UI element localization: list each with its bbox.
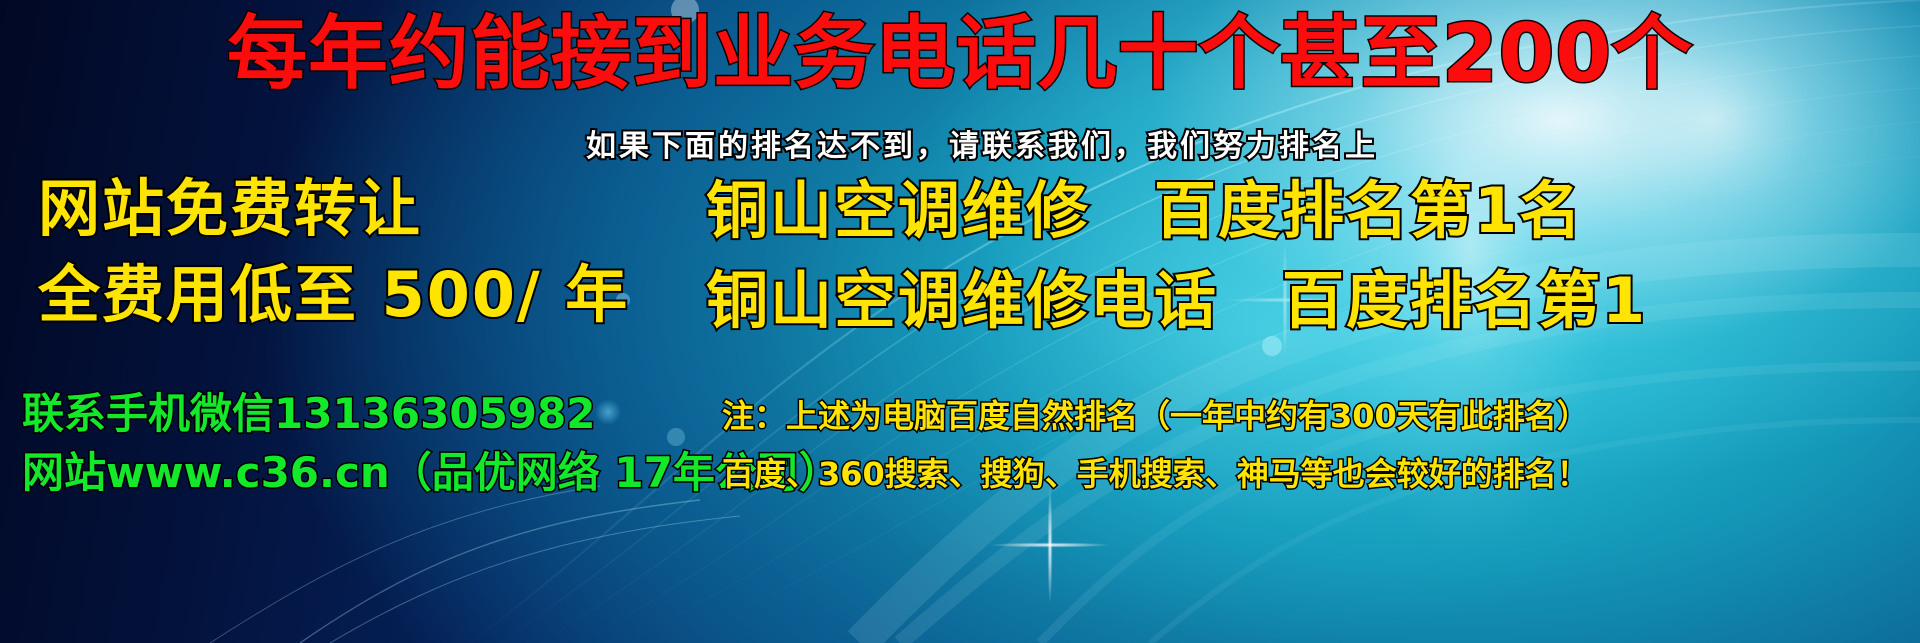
note-line-2: 百度、360搜索、搜狗、手机搜索、神马等也会较好的排名！ <box>722 458 1589 490</box>
contact-phone-wechat: 联系手机微信13136305982 <box>22 393 595 435</box>
glow-spot <box>595 399 621 425</box>
note-line-1: 注：上述为电脑百度自然排名（一年中约有300天有此排名） <box>722 400 1589 432</box>
ranking-line-2: 铜山空调维修电话 百度排名第1 <box>706 270 1647 332</box>
offer-line-2: 全费用低至 500/ 年 <box>38 264 629 326</box>
subheadline-text: 如果下面的排名达不到，请联系我们，我们努力排名上 <box>586 132 1378 162</box>
promo-banner: 每年约能接到业务电话几十个甚至200个 如果下面的排名达不到，请联系我们，我们努… <box>0 0 1920 643</box>
headline-text: 每年约能接到业务电话几十个甚至200个 <box>0 14 1920 94</box>
offer-line-1: 网站免费转让 <box>38 178 422 240</box>
contact-website: 网站www.c36.cn（品优网络 17年公司） <box>22 452 841 494</box>
ranking-line-1: 铜山空调维修 百度排名第1名 <box>706 180 1583 242</box>
